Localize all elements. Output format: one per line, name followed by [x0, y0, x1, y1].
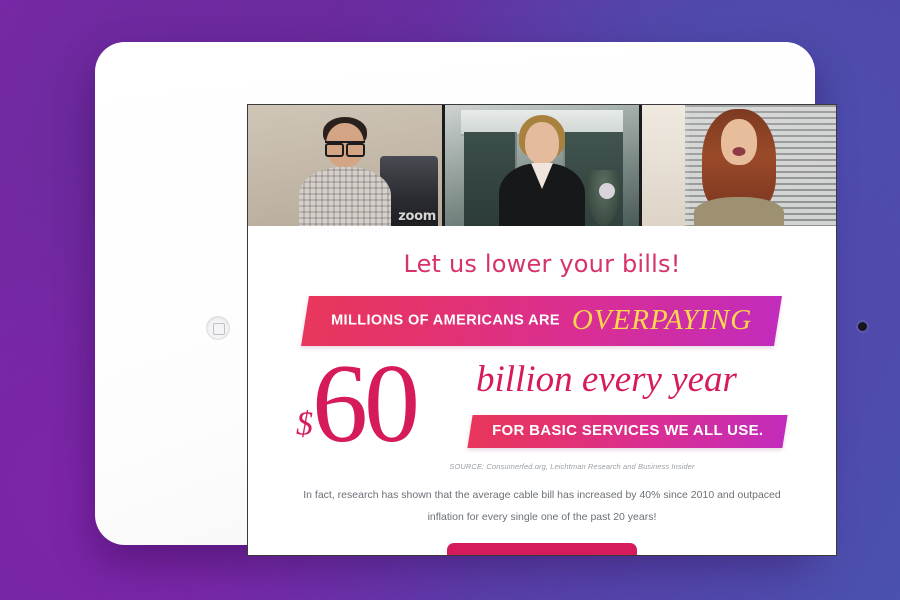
overpaying-lead-label: MILLIONS OF AMERICANS ARE: [332, 313, 561, 329]
basic-services-label: FOR BASIC SERVICES WE ALL USE.: [492, 422, 763, 439]
basic-services-banner-wrap: FOR BASIC SERVICES WE ALL USE.: [470, 415, 785, 448]
home-button[interactable]: [207, 317, 229, 339]
body-paragraph: In fact, research has shown that the ave…: [296, 485, 788, 528]
tablet-screen: zoom: [247, 104, 837, 556]
figure-block: $60 billion every year FOR BASIC SERVICE…: [248, 352, 836, 460]
participant-2-head: [525, 122, 559, 164]
video-tile-participant-3[interactable]: [642, 105, 836, 226]
glasses-icon: [325, 141, 365, 154]
participant-3-head: [721, 119, 757, 165]
screenshot-stage: zoom: [0, 0, 900, 600]
video-call-strip: zoom: [248, 105, 836, 226]
office-plant: [587, 170, 620, 226]
participant-1-torso: [299, 167, 391, 226]
participant-3-mouth: [733, 147, 746, 156]
overpaying-emphasis-label: OVERPAYING: [572, 304, 752, 336]
zoom-watermark: zoom: [398, 209, 436, 224]
overpaying-banner: MILLIONS OF AMERICANS AREOVERPAYING: [301, 296, 782, 346]
basic-services-banner-text: FOR BASIC SERVICES WE ALL USE.: [492, 422, 763, 440]
figure-amount: 60: [312, 342, 416, 466]
currency-symbol: $: [296, 406, 312, 443]
front-camera-icon: [858, 322, 867, 331]
video-tile-participant-1[interactable]: zoom: [248, 105, 442, 226]
figure-tagline: billion every year: [476, 358, 737, 401]
wall-strip: [642, 105, 689, 226]
big-figure: $60: [296, 348, 416, 460]
landing-page-content: Let us lower your bills! MILLIONS OF AME…: [248, 226, 836, 555]
basic-services-banner: FOR BASIC SERVICES WE ALL USE.: [467, 415, 787, 448]
cta-button[interactable]: [447, 543, 637, 556]
video-tile-participant-2[interactable]: [445, 105, 639, 226]
tablet-device: zoom: [95, 42, 815, 545]
participant-2-straps: [529, 183, 555, 205]
page-headline: Let us lower your bills!: [248, 226, 836, 278]
overpaying-banner-text: MILLIONS OF AMERICANS AREOVERPAYING: [332, 304, 753, 337]
participant-3-torso: [694, 197, 784, 226]
